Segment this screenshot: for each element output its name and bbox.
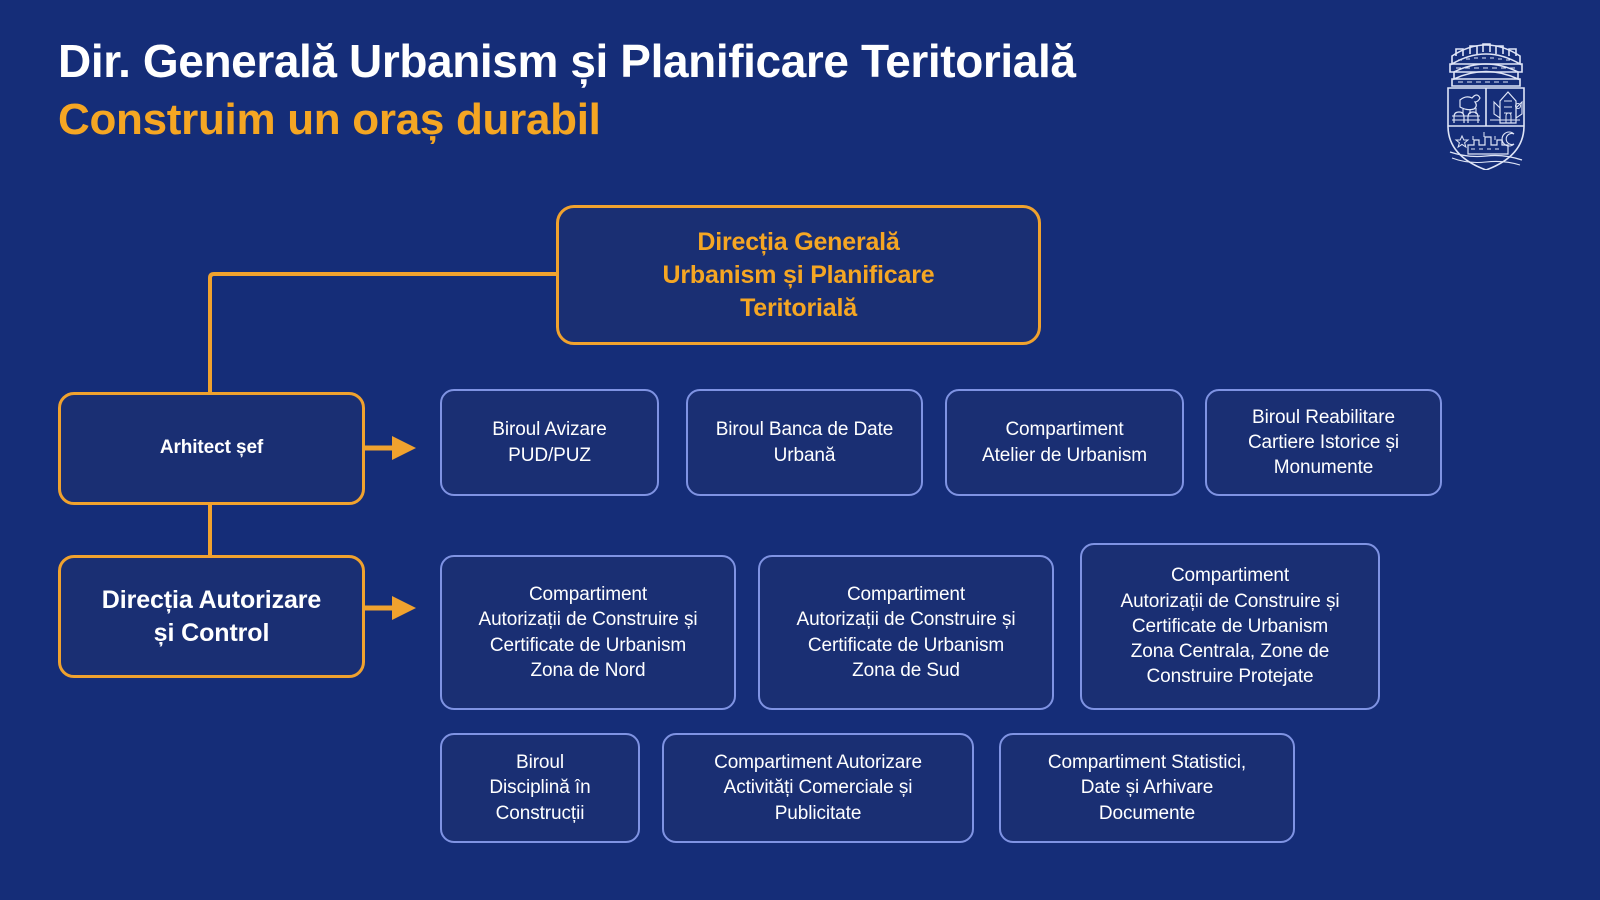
node-compartiment-atelier-de-urbanism[interactable]: Compartiment Atelier de Urbanism: [945, 389, 1184, 496]
node-biroul-banca-de-date-urbana[interactable]: Biroul Banca de Date Urbană: [686, 389, 923, 496]
node-label: Direcția Autorizare și Control: [61, 584, 362, 650]
node-biroul-disciplina-in-constructii[interactable]: Biroul Disciplină în Construcții: [440, 733, 640, 843]
node-label: Compartiment Autorizații de Construire ș…: [442, 582, 734, 683]
node-directia-autorizare-si-control[interactable]: Direcția Autorizare și Control: [58, 555, 365, 678]
org-chart: Direcția Generală Urbanism și Planificar…: [0, 0, 1600, 900]
node-label: Biroul Reabilitare Cartiere Istorice și …: [1207, 405, 1440, 481]
node-compartiment-statistici-date-arhivare[interactable]: Compartiment Statistici, Date și Arhivar…: [999, 733, 1295, 843]
node-compartiment-zona-centrala[interactable]: Compartiment Autorizații de Construire ș…: [1080, 543, 1380, 710]
arrow-arhitect-sef: [365, 436, 416, 460]
node-compartiment-autorizare-activitati-comerciale[interactable]: Compartiment Autorizare Activități Comer…: [662, 733, 974, 843]
node-compartiment-zona-de-nord[interactable]: Compartiment Autorizații de Construire ș…: [440, 555, 736, 710]
node-label: Compartiment Atelier de Urbanism: [947, 417, 1182, 468]
node-label: Compartiment Autorizații de Construire ș…: [1082, 563, 1378, 689]
node-arhitect-sef[interactable]: Arhitect șef: [58, 392, 365, 505]
arrow-directia-autorizare: [365, 596, 416, 620]
node-label: Direcția Generală Urbanism și Planificar…: [559, 226, 1038, 325]
node-label: Arhitect șef: [61, 436, 362, 461]
node-label: Compartiment Autorizare Activități Comer…: [664, 750, 972, 826]
node-label: Compartiment Autorizații de Construire ș…: [760, 582, 1052, 683]
slide-canvas: Dir. Generală Urbanism și Planificare Te…: [0, 0, 1600, 900]
node-root-directia-generala[interactable]: Direcția Generală Urbanism și Planificar…: [556, 205, 1041, 345]
node-label: Biroul Disciplină în Construcții: [442, 750, 638, 826]
node-biroul-avizare-pud-puz[interactable]: Biroul Avizare PUD/PUZ: [440, 389, 659, 496]
node-compartiment-zona-de-sud[interactable]: Compartiment Autorizații de Construire ș…: [758, 555, 1054, 710]
node-label: Biroul Banca de Date Urbană: [688, 417, 921, 468]
node-label: Biroul Avizare PUD/PUZ: [442, 417, 657, 468]
node-biroul-reabilitare-cartiere-istorice[interactable]: Biroul Reabilitare Cartiere Istorice și …: [1205, 389, 1442, 496]
node-label: Compartiment Statistici, Date și Arhivar…: [1001, 750, 1293, 826]
